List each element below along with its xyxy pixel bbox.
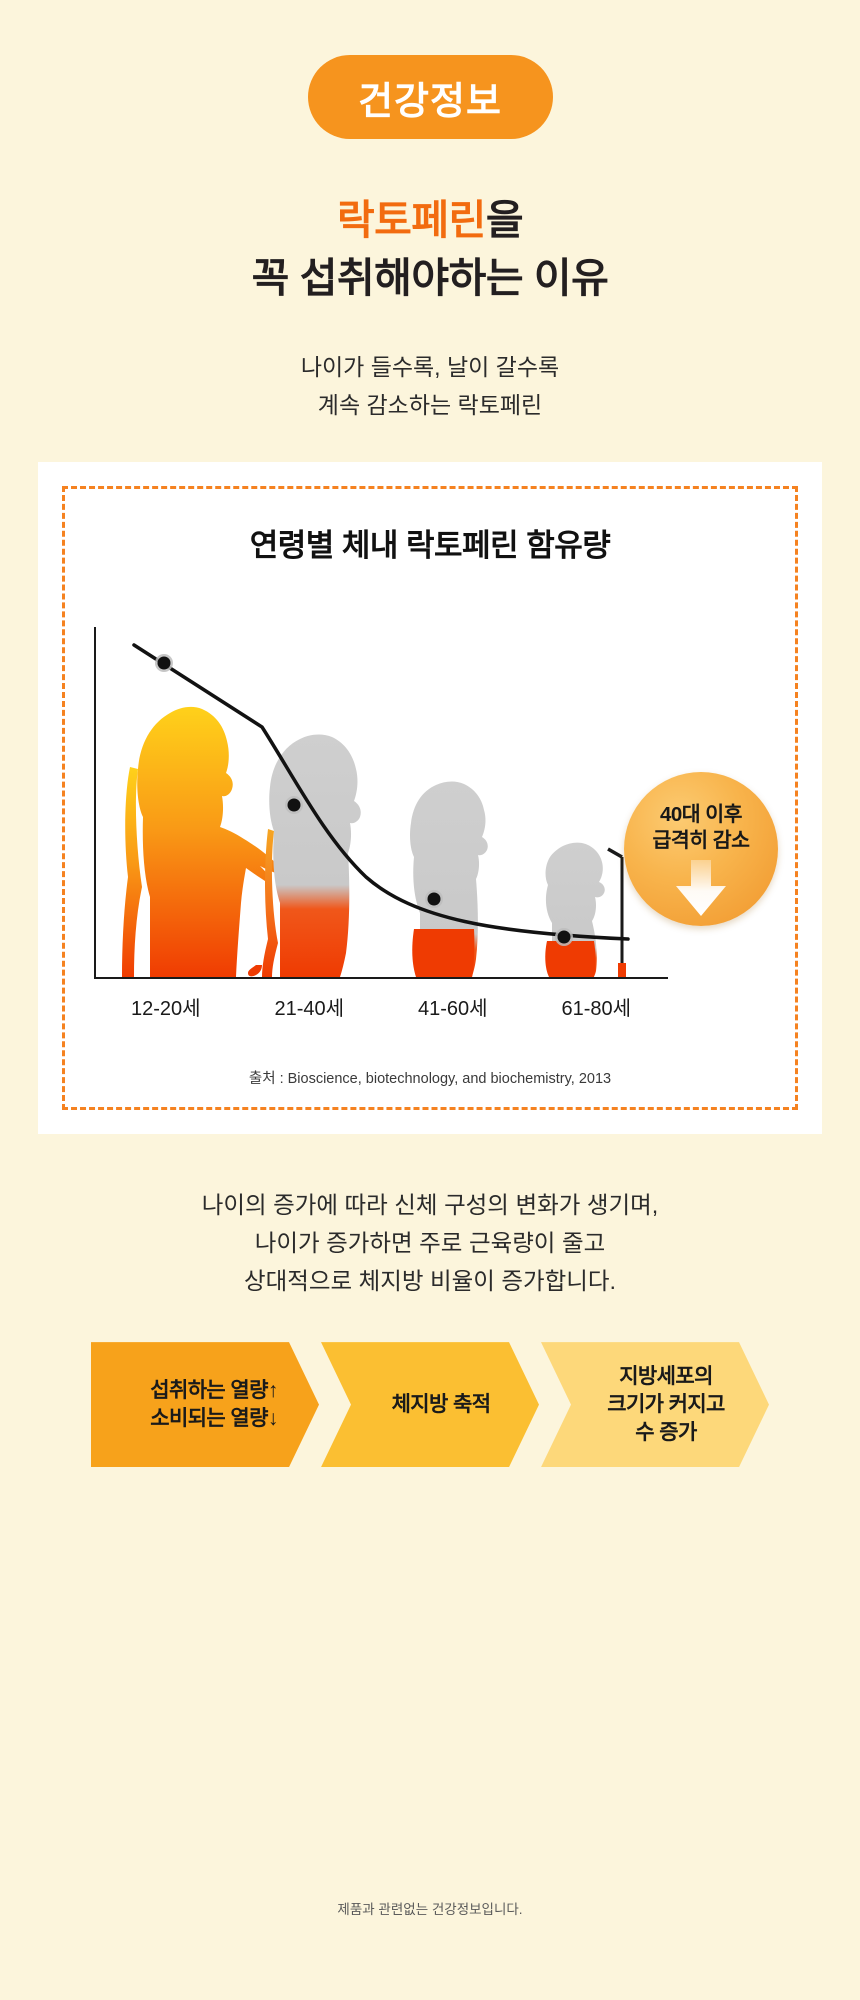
- page-title: 락토페린을 꼭 섭취해야하는 이유: [0, 191, 860, 307]
- flow-step-2-line-1: 체지방 축적: [392, 1391, 491, 1419]
- lactoferrin-decline-curve: [94, 627, 668, 979]
- flow-step-3-line-2: 크기가 커지고: [607, 1391, 725, 1419]
- health-info-pill-label: 건강정보: [358, 70, 502, 125]
- x-axis-label-3: 61-80세: [525, 992, 669, 1021]
- x-axis-labels: 12-20세 21-40세 41-60세 61-80세: [94, 992, 668, 1021]
- decline-callout-badge: 40대 이후 급격히 감소: [624, 772, 778, 926]
- flow-step-3-line-3: 수 증가: [607, 1419, 725, 1447]
- flow-step-3-line-1: 지방세포의: [607, 1363, 725, 1391]
- subtitle-block: 나이가 들수록, 날이 갈수록 계속 감소하는 락토페린: [0, 349, 860, 424]
- body-paragraph-line-1: 나이의 증가에 따라 신체 구성의 변화가 생기며,: [0, 1186, 860, 1224]
- subtitle-line-1: 나이가 들수록, 날이 갈수록: [0, 349, 860, 386]
- decline-callout-text: 40대 이후 급격히 감소: [624, 802, 778, 854]
- headline-line-1: 락토페린을: [0, 191, 860, 249]
- flow-step-1: 섭취하는 열량↑ 소비되는 열량↓: [91, 1342, 319, 1467]
- body-paragraph: 나이의 증가에 따라 신체 구성의 변화가 생기며, 나이가 증가하면 주로 근…: [0, 1186, 860, 1300]
- header-badge-wrap: 건강정보: [0, 0, 860, 139]
- flow-step-1-line-2: 소비되는 열량↓: [150, 1405, 277, 1433]
- subtitle-line-2: 계속 감소하는 락토페린: [0, 387, 860, 424]
- x-axis-label-2: 41-60세: [381, 992, 525, 1021]
- x-axis-label-1: 21-40세: [238, 992, 382, 1021]
- footer-disclaimer: 제품과 관련없는 건강정보입니다.: [0, 1898, 860, 1918]
- flow-step-1-line-1: 섭취하는 열량↑: [150, 1377, 277, 1405]
- x-axis-label-0: 12-20세: [94, 992, 238, 1021]
- body-paragraph-line-2: 나이가 증가하면 주로 근육량이 줄고: [0, 1224, 860, 1262]
- chart-title: 연령별 체내 락토페린 함유량: [38, 520, 822, 565]
- chart-source: 출처 : Bioscience, biotechnology, and bioc…: [38, 1067, 822, 1088]
- flow-step-2-text: 체지방 축적: [392, 1391, 491, 1419]
- chart-plot-area: 12-20세 21-40세 41-60세 61-80세 40대 이후 급격히 감…: [94, 627, 774, 1027]
- headline-line-1-rest: 을: [486, 197, 523, 243]
- headline-line-2: 꼭 섭취해야하는 이유: [0, 249, 860, 307]
- flow-step-3-text: 지방세포의 크기가 커지고 수 증가: [607, 1363, 725, 1447]
- headline-accent-word: 락토페린: [337, 197, 486, 243]
- health-info-pill: 건강정보: [308, 55, 553, 139]
- chart-card: 연령별 체내 락토페린 함유량: [38, 462, 822, 1134]
- flow-step-1-text: 섭취하는 열량↑ 소비되는 열량↓: [150, 1377, 277, 1433]
- decline-callout-line-1: 40대 이후: [624, 802, 778, 828]
- decline-callout-line-2: 급격히 감소: [624, 828, 778, 854]
- flow-step-3: 지방세포의 크기가 커지고 수 증가: [541, 1342, 769, 1467]
- down-arrow-icon: [674, 860, 728, 916]
- body-paragraph-line-3: 상대적으로 체지방 비율이 증가합니다.: [0, 1262, 860, 1300]
- flow-step-2: 체지방 축적: [321, 1342, 539, 1467]
- process-flow: 섭취하는 열량↑ 소비되는 열량↓ 체지방 축적 지방세포의 크기가 커지고 수…: [0, 1342, 860, 1467]
